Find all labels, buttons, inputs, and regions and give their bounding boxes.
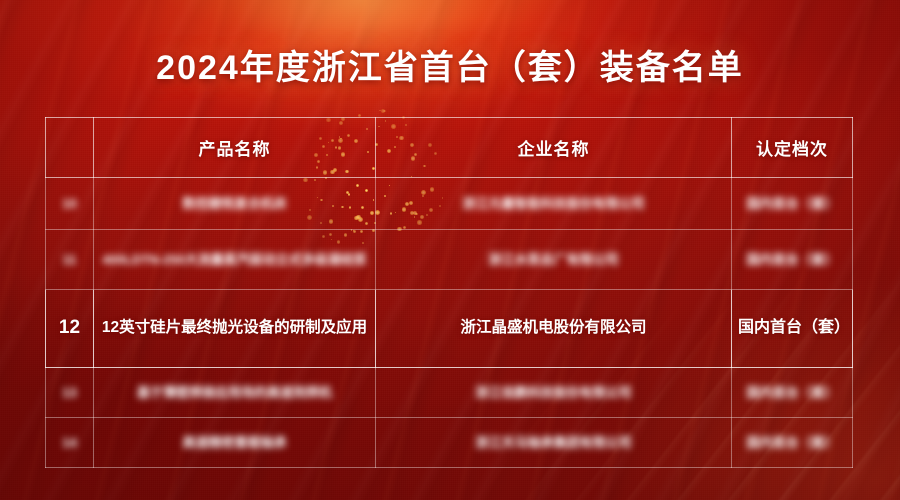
row-index-cell: 10 <box>46 178 94 230</box>
company-name-cell: 浙江晶盛机电股份有限公司 <box>376 290 732 368</box>
company-name-cell: 浙江元量智能科技股份有限公司 <box>376 178 732 230</box>
column-header-product: 产品名称 <box>94 118 376 178</box>
column-header-company: 企业名称 <box>376 118 732 178</box>
table-row[interactable]: 11400LDTN-250大流量蒸汽驱动立式多级凝结泵浙江水泵总厂有限公司国内首… <box>46 230 853 290</box>
table-header: 产品名称 企业名称 认定档次 <box>46 118 853 178</box>
company-name-cell: 浙江水泵总厂有限公司 <box>376 230 732 290</box>
column-header-index <box>46 118 94 178</box>
row-index-cell: 11 <box>46 230 94 290</box>
poster-canvas: 2024年度浙江省首台（套）装备名单 产品名称 企业名称 认定档次 10数控磨铣… <box>0 0 900 500</box>
table-row[interactable]: 14高速精密重载轴承浙江天马轴承集团有限公司国内首台（套） <box>46 418 853 468</box>
table-row[interactable]: 13基于薄壁焊接应用场的高速到焊机浙江佳鹏科技股份有限公司国内首台（套） <box>46 368 853 418</box>
equipment-list-table: 产品名称 企业名称 认定档次 10数控磨铣复合机床浙江元量智能科技股份有限公司国… <box>45 117 853 468</box>
grade-cell: 国内首台（套） <box>732 368 853 418</box>
grade-cell: 国内首台（套） <box>732 290 853 368</box>
table-header-row: 产品名称 企业名称 认定档次 <box>46 118 853 178</box>
row-index-cell: 12 <box>46 290 94 368</box>
product-name-cell: 基于薄壁焊接应用场的高速到焊机 <box>94 368 376 418</box>
page-title: 2024年度浙江省首台（套）装备名单 <box>0 40 900 89</box>
company-name-cell: 浙江天马轴承集团有限公司 <box>376 418 732 468</box>
table-row[interactable]: 1212英寸硅片最终抛光设备的研制及应用浙江晶盛机电股份有限公司国内首台（套） <box>46 290 853 368</box>
grade-cell: 国内首台（套） <box>732 230 853 290</box>
product-name-cell: 400LDTN-250大流量蒸汽驱动立式多级凝结泵 <box>94 230 376 290</box>
table-row[interactable]: 10数控磨铣复合机床浙江元量智能科技股份有限公司国内首台（套） <box>46 178 853 230</box>
table-body: 10数控磨铣复合机床浙江元量智能科技股份有限公司国内首台（套）11400LDTN… <box>46 178 853 468</box>
equipment-list-table-wrapper: 产品名称 企业名称 认定档次 10数控磨铣复合机床浙江元量智能科技股份有限公司国… <box>45 117 852 458</box>
grade-cell: 国内首台（套） <box>732 178 853 230</box>
company-name-cell: 浙江佳鹏科技股份有限公司 <box>376 368 732 418</box>
grade-cell: 国内首台（套） <box>732 418 853 468</box>
row-index-cell: 14 <box>46 418 94 468</box>
column-header-grade: 认定档次 <box>732 118 853 178</box>
row-index-cell: 13 <box>46 368 94 418</box>
product-name-cell: 高速精密重载轴承 <box>94 418 376 468</box>
product-name-cell: 数控磨铣复合机床 <box>94 178 376 230</box>
product-name-cell: 12英寸硅片最终抛光设备的研制及应用 <box>94 290 376 368</box>
